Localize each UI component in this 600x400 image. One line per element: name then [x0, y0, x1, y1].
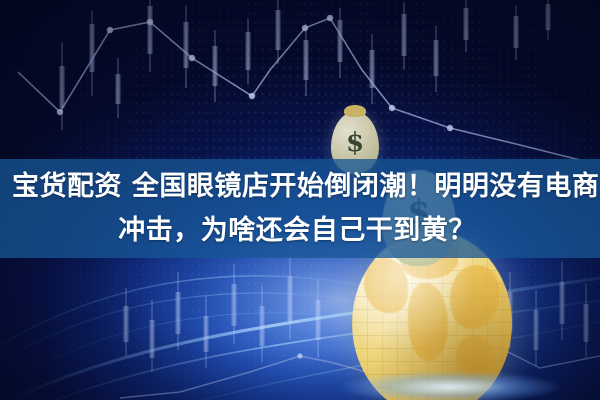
- dollar-sign-icon: $: [331, 128, 379, 158]
- headline-line-1: 宝货配资 全国眼镜店开始倒闭潮！明明没有电商: [12, 165, 588, 209]
- headline-line-2: 冲击，为啥还会自己干到黄？: [12, 209, 588, 253]
- globe-base-glow: [300, 352, 600, 400]
- headline-text-block: 宝货配资 全国眼镜店开始倒闭潮！明明没有电商 冲击，为啥还会自己干到黄？: [0, 159, 600, 258]
- money-bag-knot: [344, 105, 366, 117]
- news-thumbnail-image: $ $ 宝货配资 全国眼镜店开始倒闭潮！明明没有电商 冲击，为啥还会自己干到黄？: [0, 0, 600, 400]
